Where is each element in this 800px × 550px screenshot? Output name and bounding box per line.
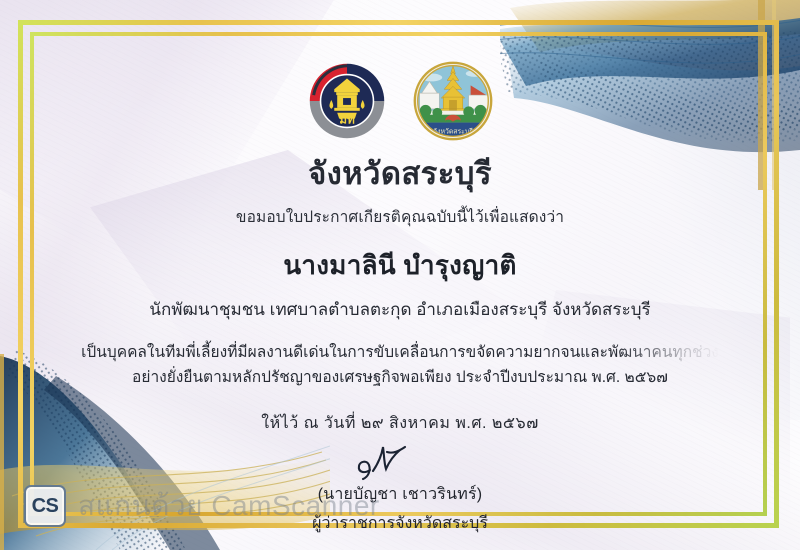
emblem-row: มท [0,0,800,150]
recipient-name: นางมาลินี บำรุงญาติ [0,245,800,286]
body-line-1: เป็นบุคคลในทีมพี่เลี้ยงที่มีผลงานดีเด่นใ… [81,340,719,366]
svg-text:มท: มท [339,114,355,127]
certificate-body: เป็นบุคคลในทีมพี่เลี้ยงที่มีผลงานดีเด่นใ… [0,340,800,391]
ministry-of-interior-emblem: มท [298,52,396,150]
certificate-content: มท [0,0,800,536]
signer-title: ผู้ว่าราชการจังหวัดสระบุรี [0,511,800,536]
recipient-role: นักพัฒนาชุมชน เทศบาลตำบลตะกุด อำเภอเมือง… [0,296,800,323]
lead-line: ขอมอบใบประกาศเกียรติคุณฉบับนี้ไว้เพื่อแส… [0,204,800,229]
signer-name: (นายบัญชา เชาวรินทร์) [0,482,800,507]
body-line-2: อย่างยั่งยืนตามหลักปรัชญาของเศรษฐกิจพอเพ… [0,365,800,391]
certificate-page: มท [0,0,800,550]
saraburi-province-seal: จังหวัดสระบุรี [404,52,502,150]
signature-mark [0,440,800,482]
page-title: จังหวัดสระบุรี [0,156,800,192]
issue-date: ให้ไว้ ณ วันที่ ๒๙ สิงหาคม พ.ศ. ๒๕๖๗ [0,411,800,436]
